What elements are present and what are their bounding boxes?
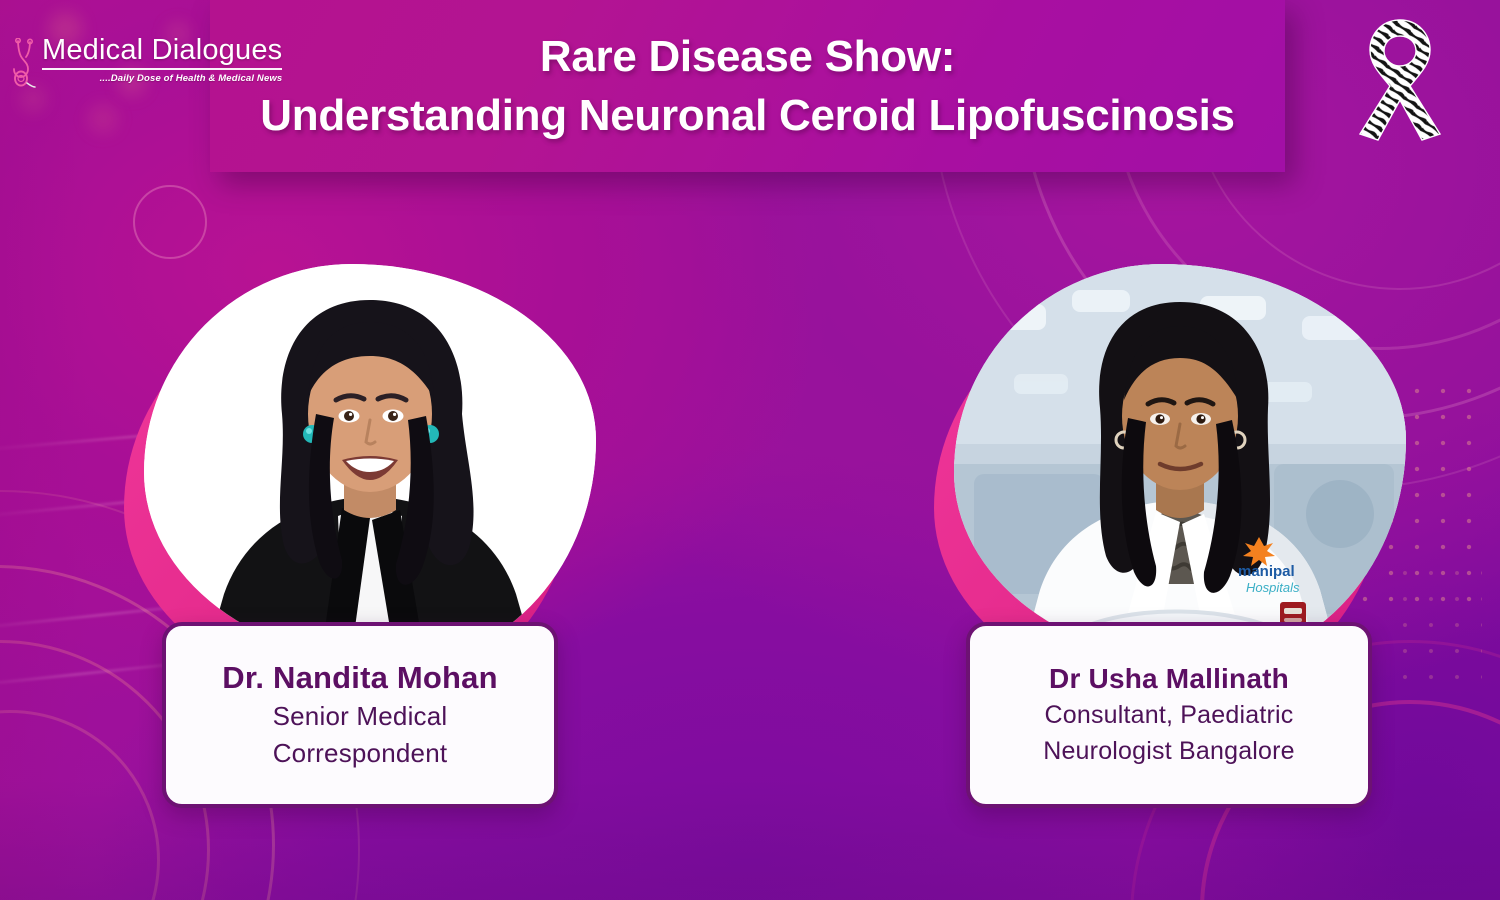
speaker-photo-frame: manipal Hospitals [954,264,1406,664]
speaker-role-line-2: Neurologist Bangalore [1043,735,1295,767]
title-banner: Rare Disease Show: Understanding Neurona… [210,0,1285,172]
logo-text-block: Medical Dialogues ....Daily Dose of Heal… [42,36,282,84]
banner-title-line-1: Rare Disease Show: [540,29,955,84]
speaker-role-line-1: Senior Medical [273,700,448,733]
svg-text:Hospitals: Hospitals [1246,580,1300,595]
speaker-name-card: Dr Usha Mallinath Consultant, Paediatric… [966,622,1372,808]
decorative-bokeh [88,104,118,134]
decorative-vignette [0,0,90,900]
logo-title: Medical Dialogues [42,36,282,66]
speaker-card-nandita-mohan: Dr. Nandita Mohan Senior Medical Corresp… [118,240,608,820]
speaker-role-line-1: Consultant, Paediatric [1045,699,1294,731]
speaker-name-card: Dr. Nandita Mohan Senior Medical Corresp… [162,622,558,808]
avatar [144,264,596,664]
zebra-awareness-ribbon-icon [1346,14,1454,144]
stethoscope-icon [12,38,38,90]
speaker-name: Dr. Nandita Mohan [222,660,498,696]
poster-canvas: Medical Dialogues ....Daily Dose of Heal… [0,0,1500,900]
speaker-role-line-2: Correspondent [273,737,448,770]
speaker-photo-frame [144,264,596,664]
logo-tagline: ....Daily Dose of Health & Medical News [42,73,282,84]
banner-title-line-2: Understanding Neuronal Ceroid Lipofuscin… [260,88,1234,143]
speaker-name: Dr Usha Mallinath [1049,663,1289,695]
speaker-card-usha-mallinath: manipal Hospitals Dr Usha Mallinath Cons… [928,240,1418,820]
logo-underline [42,68,282,70]
brand-logo: Medical Dialogues ....Daily Dose of Heal… [12,36,282,90]
svg-text:manipal: manipal [1238,563,1295,580]
avatar: manipal Hospitals [954,264,1406,664]
